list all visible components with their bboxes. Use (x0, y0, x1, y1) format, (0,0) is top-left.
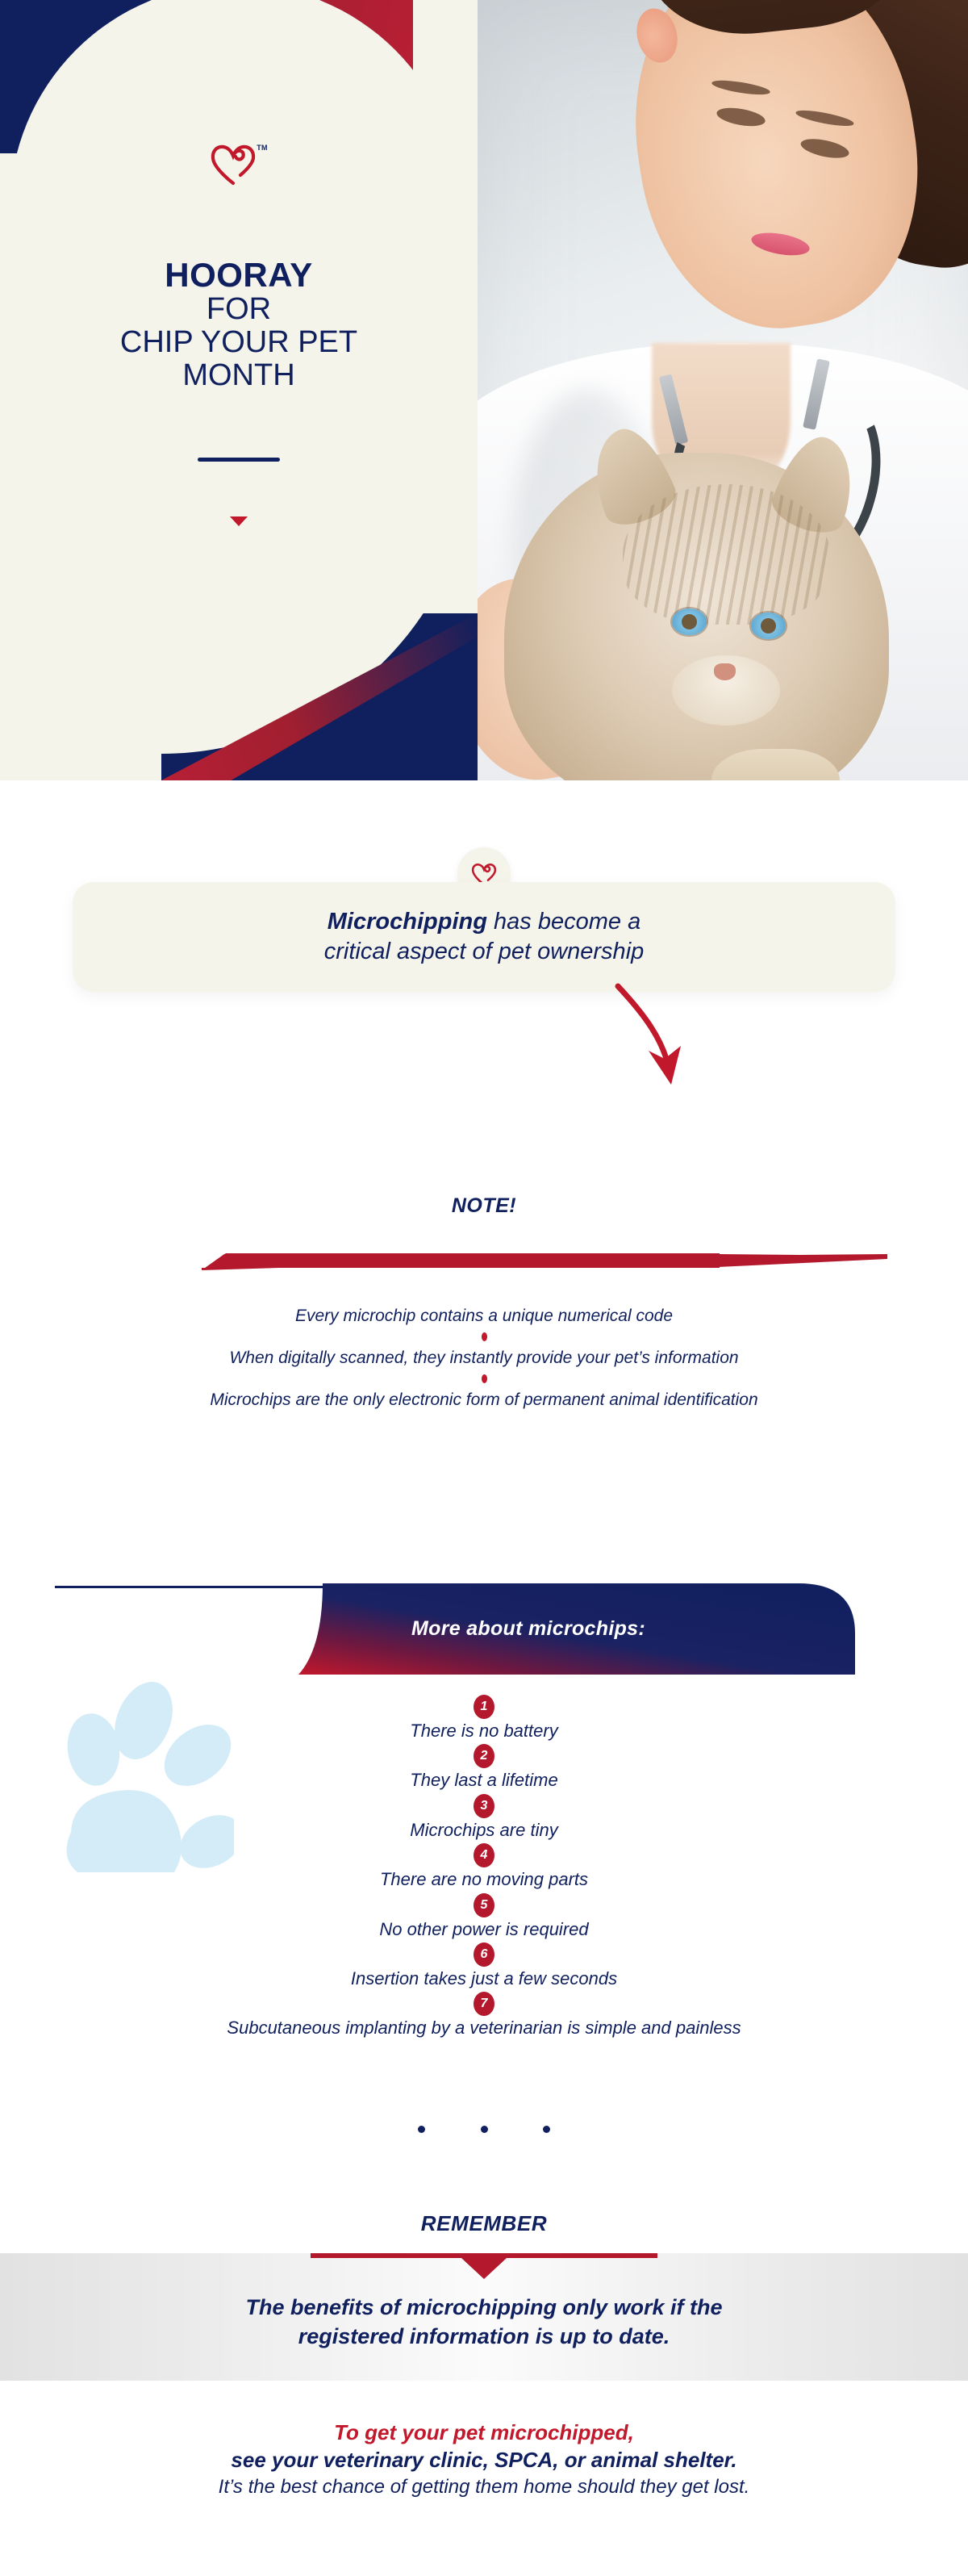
heart-logo-icon (210, 144, 257, 186)
separator-dot-icon (543, 2126, 550, 2133)
fact-text: Insertion takes just a few seconds (0, 1968, 968, 1989)
footer-line-3: It’s the best chance of getting them hom… (0, 2474, 968, 2500)
intro-emphasis: Microchipping (328, 909, 487, 935)
fact-number-badge: 1 (474, 1695, 494, 1719)
footer-cta: To get your pet microchipped, see your v… (0, 2419, 968, 2499)
fact-text: There is no battery (0, 1721, 968, 1742)
note-fact: When digitally scanned, they instantly p… (0, 1348, 968, 1368)
fact-text: No other power is required (0, 1919, 968, 1940)
list-item: 6 Insertion takes just a few seconds (0, 1942, 968, 1989)
hero-title-line-4: MONTH (0, 359, 478, 392)
hero-title: HOORAY FOR CHIP YOUR PET MONTH (0, 258, 478, 392)
cat-eye-left (672, 608, 707, 635)
bullet-dot-icon (482, 1374, 487, 1383)
hero-corner-accent-navy (0, 0, 210, 153)
note-heading: NOTE! (0, 1194, 968, 1218)
fact-text: Microchips are tiny (0, 1820, 968, 1841)
dot-separator (0, 2122, 968, 2137)
hero-title-line-3: CHIP YOUR PET (0, 326, 478, 359)
hero-divider-rule (198, 458, 280, 462)
infographic-page: TM HOORAY FOR CHIP YOUR PET MONTH Microc… (0, 0, 968, 2576)
note-facts-list: Every microchip contains a unique numeri… (0, 1306, 968, 1411)
fact-text: Subcutaneous implanting by a veterinaria… (0, 2018, 968, 2039)
remember-line-1: The benefits of microchipping only work … (0, 2294, 968, 2323)
intro-rest: has become a (487, 909, 640, 935)
fact-text: They last a lifetime (0, 1770, 968, 1791)
fact-number-badge: 6 (474, 1942, 494, 1967)
microchip-facts-list: 1 There is no battery 2 They last a life… (0, 1695, 968, 2042)
hero-section: TM HOORAY FOR CHIP YOUR PET MONTH (0, 0, 968, 780)
hero-logo: TM (0, 144, 478, 190)
separator-dot-icon (481, 2126, 488, 2133)
trademark-mark: TM (257, 144, 268, 152)
cat-stripes (623, 484, 830, 625)
caret-down-icon (230, 516, 248, 526)
hero-title-line-2: FOR (0, 293, 478, 326)
intro-text: Microchipping has become a critical aspe… (324, 907, 645, 967)
intro-line-2: critical aspect of pet ownership (324, 937, 645, 967)
cat-eye-right (751, 613, 786, 639)
curved-arrow-icon (613, 983, 718, 1096)
note-fact: Microchips are the only electronic form … (0, 1390, 968, 1410)
list-item: 2 They last a lifetime (0, 1744, 968, 1791)
more-banner-label: More about microchips: (202, 1583, 855, 1675)
list-item: 5 No other power is required (0, 1893, 968, 1940)
remember-caret-icon (461, 2258, 507, 2279)
list-item: 7 Subcutaneous implanting by a veterinar… (0, 1992, 968, 2039)
fact-number-badge: 5 (474, 1893, 494, 1917)
fact-text: There are no moving parts (0, 1869, 968, 1890)
footer-line-2: see your veterinary clinic, SPCA, or ani… (0, 2447, 968, 2474)
note-fact: Every microchip contains a unique numeri… (0, 1306, 968, 1326)
hero-photo-vet-with-cat (474, 0, 968, 780)
bullet-dot-icon (482, 1332, 487, 1341)
remember-heading: REMEMBER (0, 2211, 968, 2236)
remember-line-2: registered information is up to date. (0, 2323, 968, 2352)
hero-title-line-1: HOORAY (0, 258, 478, 293)
intro-card: Microchipping has become a critical aspe… (73, 882, 895, 992)
footer-line-1: To get your pet microchipped, (0, 2419, 968, 2447)
separator-dot-icon (418, 2126, 425, 2133)
list-item: 3 Microchips are tiny (0, 1794, 968, 1841)
note-accent-bar (202, 1252, 887, 1270)
remember-text: The benefits of microchipping only work … (0, 2294, 968, 2351)
list-item: 4 There are no moving parts (0, 1843, 968, 1890)
fact-number-badge: 2 (474, 1744, 494, 1768)
fact-number-badge: 3 (474, 1794, 494, 1818)
hero-bottom-wedge (161, 613, 478, 780)
fact-number-badge: 4 (474, 1843, 494, 1867)
hero-wedge-red-layer (161, 613, 478, 780)
fact-number-badge: 7 (474, 1992, 494, 2016)
list-item: 1 There is no battery (0, 1695, 968, 1742)
